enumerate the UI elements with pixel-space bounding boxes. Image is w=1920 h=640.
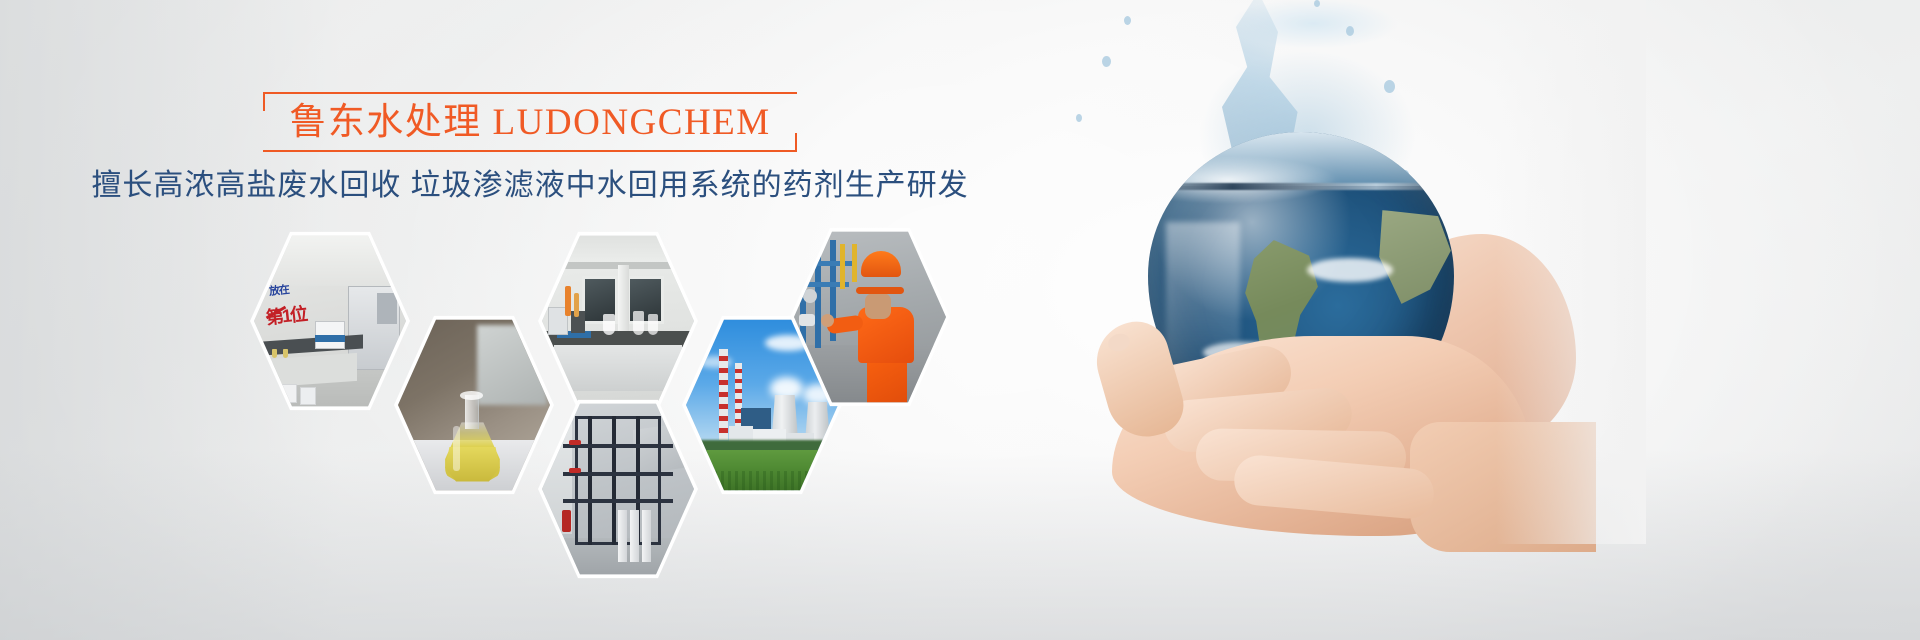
hex-photo-surface: 放在 第1位 <box>254 234 406 408</box>
hexagon-photo-cluster: 放在 第1位 <box>238 222 948 522</box>
hex-photo-flask[interactable] <box>394 314 554 496</box>
title-bracket-right-icon <box>795 133 797 152</box>
skid-riser-a <box>588 416 592 545</box>
yellow-pipe-a <box>840 244 845 289</box>
flask-lip <box>460 391 483 400</box>
globe-cloud-a <box>1307 258 1393 282</box>
photo-drum-b <box>300 387 317 404</box>
photo-ceiling <box>542 234 694 265</box>
membrane-vessel-c <box>642 510 651 562</box>
photo-glassware-b <box>633 311 644 335</box>
flask-highlight <box>453 426 461 471</box>
water-droplet <box>1102 56 1111 67</box>
water-droplet <box>1346 26 1354 36</box>
membrane-vessel-b <box>630 510 639 562</box>
photo-grass-texture <box>686 471 838 492</box>
water-droplet <box>1384 80 1395 93</box>
globe-waterline <box>1148 183 1454 190</box>
skid-header-c <box>563 499 672 503</box>
water-droplet <box>1314 0 1320 7</box>
photo-flask-a <box>272 349 277 358</box>
hex-photo-surface <box>542 234 694 408</box>
hex-photo-lab-hoods[interactable] <box>538 230 698 412</box>
brand-title: 鲁东水处理 LUDONGCHEM <box>289 98 770 148</box>
title-bracket-left-icon <box>263 92 265 111</box>
photo-flask-b <box>283 349 288 358</box>
photo-bench-cabinet <box>554 345 682 390</box>
photo-window-blur <box>477 325 547 405</box>
hex-photo-lab-office[interactable]: 放在 第1位 <box>250 230 410 412</box>
worker-face <box>865 293 891 319</box>
headline-block: 鲁东水处理 LUDONGCHEM 擅长高浓高盐废水回收 垃圾渗滤液中水回用系统的… <box>0 92 1060 206</box>
valve-handle-a <box>569 440 581 445</box>
membrane-vessel-a <box>618 510 627 562</box>
skid-riser-b <box>612 416 616 545</box>
worker-legs <box>867 355 907 404</box>
water-droplet <box>1124 16 1131 25</box>
photo-orange-stand-a <box>565 286 571 316</box>
hero-banner: 鲁东水处理 LUDONGCHEM 擅长高浓高盐废水回收 垃圾渗滤液中水回用系统的… <box>0 0 1920 640</box>
photo-cabinet-door <box>377 293 397 324</box>
valve-block <box>799 314 815 326</box>
photo-glassware-a <box>603 314 615 335</box>
photo-orange-stand-b <box>574 293 579 317</box>
photo-glassware-c <box>648 314 657 335</box>
valve-handle-c <box>562 510 571 532</box>
banner-subtitle: 擅长高浓高盐废水回收 垃圾渗滤液中水回用系统的药剂生产研发 <box>0 166 1060 206</box>
water-globe-in-hands-image <box>1046 0 1586 544</box>
hard-hat-brim <box>856 287 904 294</box>
title-rule-bottom <box>263 150 796 152</box>
hex-photo-surface <box>398 318 550 492</box>
wall-text-top: 放在 <box>269 285 290 298</box>
continent-africa <box>1374 210 1454 312</box>
valve-handle-b <box>569 468 581 473</box>
image-right-fade <box>1496 0 1646 544</box>
globe-foam <box>1154 156 1338 204</box>
worker-hand <box>821 314 834 327</box>
photo-bench-base <box>269 353 357 387</box>
brand-title-frame: 鲁东水处理 LUDONGCHEM <box>263 92 796 152</box>
yellow-pipe-b <box>852 244 857 282</box>
flask-neck <box>465 395 479 430</box>
water-droplet <box>1076 114 1082 122</box>
photo-ceiling <box>254 234 406 286</box>
wall-text-main: 第1位 <box>265 305 307 327</box>
chimney-a <box>719 349 728 439</box>
photo-instrument-stripe <box>315 335 345 342</box>
title-rule-top <box>263 92 796 94</box>
